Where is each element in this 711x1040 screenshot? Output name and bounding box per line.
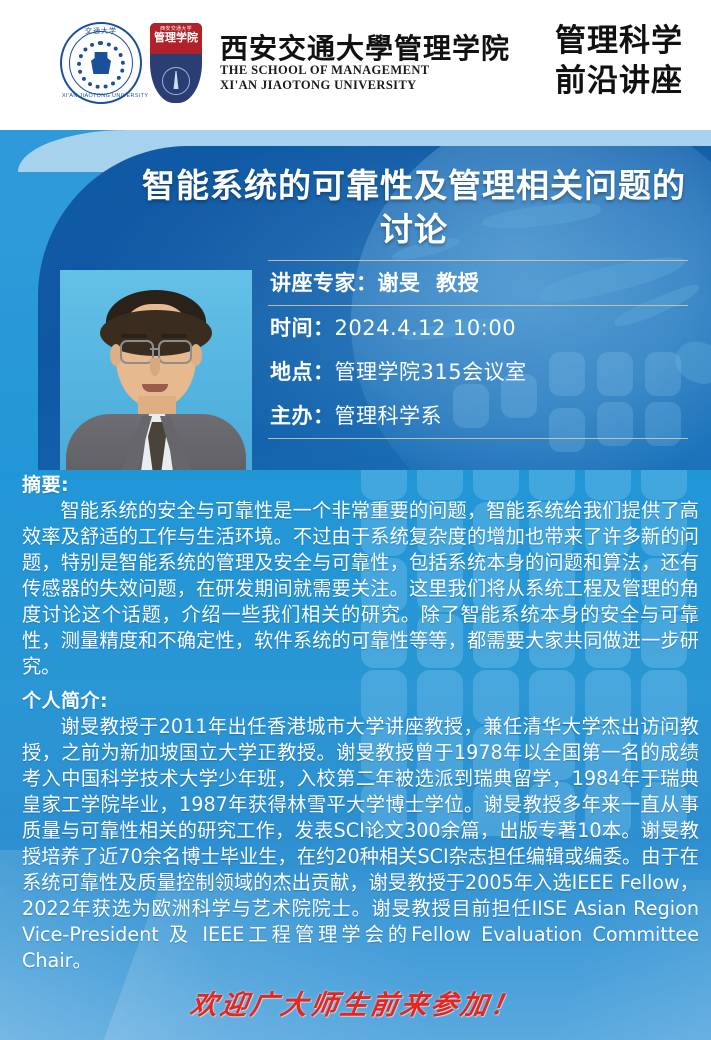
speaker-name: 谢旻 [378, 271, 421, 295]
speaker-photo [60, 270, 252, 470]
wordmark: 西安交通大學管理学院 THE SCHOOL OF MANAGEMENT XI'A… [220, 34, 510, 93]
series-line-2: 前沿讲座 [555, 62, 683, 102]
info-row-place: 地点：管理学院315会议室 [268, 350, 688, 394]
photo-brow-right [161, 334, 187, 338]
photo-glasses-bridge [150, 348, 158, 350]
series-line-1: 管理科学 [555, 22, 683, 62]
lecture-info: 讲座专家：谢旻 教授 时间：2024.4.12 10:00 地点：管理学院315… [268, 260, 688, 439]
wordmark-english-1: THE SCHOOL OF MANAGEMENT [220, 63, 510, 78]
poster-content: 摘要: 智能系统的安全与可靠性是一个非常重要的问题，智能系统给我们提供了高效率及… [0, 470, 711, 974]
info-row-time: 时间：2024.4.12 10:00 [268, 306, 688, 350]
host-label: 主办： [270, 404, 335, 428]
host-value: 管理科学系 [335, 404, 443, 428]
poster-header: 交通大学 XI'AN JIAOTONG UNIVERSITY 西安交通大学 管理… [0, 0, 711, 130]
speaker-label: 讲座专家： [270, 271, 378, 295]
time-label: 时间： [270, 316, 335, 340]
info-row-host: 主办：管理科学系 [268, 394, 688, 438]
title-panel: 智能系统的可靠性及管理相关问题的讨论 讲座专家：谢 [38, 146, 711, 470]
place-value: 管理学院315会议室 [335, 360, 527, 384]
photo-glasses-right [158, 340, 192, 364]
seal-arc-top: 交通大学 [62, 26, 140, 36]
shield-main-line: 管理学院 [150, 33, 202, 44]
wordmark-english-2: XI'AN JIAOTONG UNIVERSITY [220, 78, 510, 93]
place-label: 地点： [270, 360, 335, 384]
series-title: 管理科学 前沿讲座 [555, 22, 683, 101]
abstract-body: 智能系统的安全与可靠性是一个非常重要的问题，智能系统给我们提供了高效率及舒适的工… [22, 498, 699, 680]
abstract-heading: 摘要: [22, 470, 711, 497]
lecture-poster: 交通大学 XI'AN JIAOTONG UNIVERSITY 西安交通大学 管理… [0, 0, 711, 1040]
photo-nose [150, 358, 160, 376]
shield-tower-icon [162, 67, 190, 95]
welcome-message: 欢迎广大师生前来参加！ [187, 983, 523, 1022]
photo-brow-left [121, 334, 147, 338]
bio-body: 谢旻教授于2011年出任香港城市大学讲座教授，兼任清华大学杰出访问教授，之前为新… [22, 714, 699, 974]
wordmark-chinese: 西安交通大學管理学院 [220, 34, 510, 63]
page-title: 智能系统的可靠性及管理相关问题的讨论 [134, 164, 694, 251]
time-value: 2024.4.12 10:00 [335, 316, 517, 340]
shield-top-line: 西安交通大学 [150, 25, 202, 32]
logo-row: 交通大学 XI'AN JIAOTONG UNIVERSITY 西安交通大学 管理… [60, 22, 510, 104]
shield-band: 西安交通大学 管理学院 [150, 23, 202, 54]
university-seal-icon: 交通大学 XI'AN JIAOTONG UNIVERSITY [60, 22, 142, 104]
school-shield-icon: 西安交通大学 管理学院 [150, 23, 202, 103]
info-row-speaker: 讲座专家：谢旻 教授 [268, 261, 688, 305]
photo-mouth [142, 384, 168, 392]
divider [268, 438, 688, 439]
bio-heading: 个人简介: [22, 686, 711, 713]
seal-arc-bottom: XI'AN JIAOTONG UNIVERSITY [62, 93, 140, 99]
speaker-title: 教授 [436, 271, 479, 295]
photo-glasses-left [120, 340, 154, 364]
poster-footer: 欢迎广大师生前来参加！ [0, 983, 711, 1022]
